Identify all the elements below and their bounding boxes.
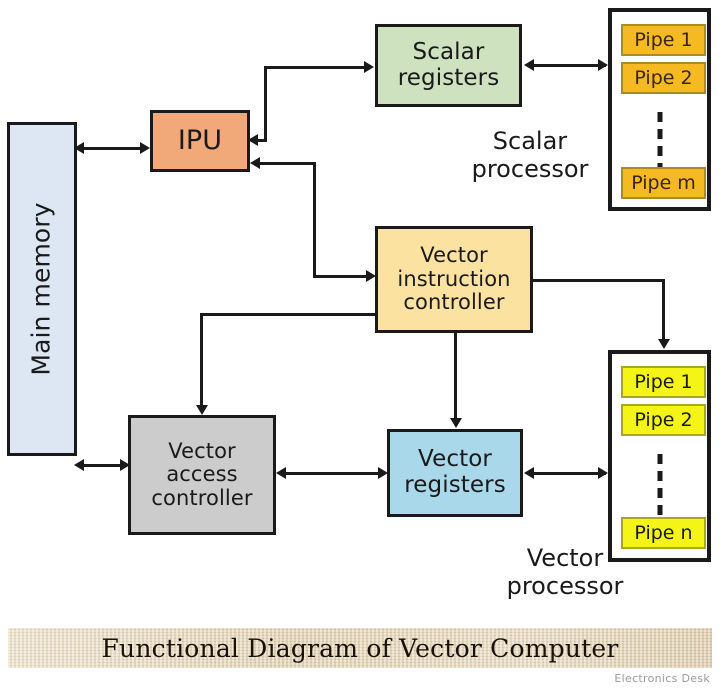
diagram-canvas: Main memory IPU Scalar registers Vector … <box>0 0 720 691</box>
node-vector-registers: Vector registers <box>387 429 523 517</box>
node-main-memory-label: Main memory <box>28 202 56 375</box>
node-vector-instruction-controller: Vector instruction controller <box>375 226 533 333</box>
edge-vic-vac-vertical <box>200 313 203 407</box>
group-vector-processor-label: Vector processor <box>490 545 640 600</box>
group-vector-processor: Pipe 1 Pipe 2 Pipe n <box>608 350 711 562</box>
edge-vic-vac-arrow <box>196 405 208 415</box>
edge-ipu-scalarreg-vertical <box>264 66 267 140</box>
watermark-label: Electronics Desk <box>614 672 710 685</box>
edge-vic-ipu-arrow <box>250 157 260 169</box>
node-ipu: IPU <box>150 110 250 172</box>
edge-vic-vectorproc-vertical <box>662 279 665 341</box>
node-scalar-registers-label: Scalar registers <box>378 40 519 92</box>
edge-vectorreg-vectorproc-arrow-left <box>524 467 534 479</box>
edge-vac-vectorreg-arrow-left <box>276 467 286 479</box>
diagram-title: Functional Diagram of Vector Computer <box>101 634 618 663</box>
edge-vic-ipu-horizontal <box>258 162 316 165</box>
vector-ellipsis-icon <box>657 454 662 515</box>
edge-scalarreg-ipu-arrow <box>248 134 258 146</box>
edge-vectorreg-vectorproc-arrow-right <box>598 467 608 479</box>
node-vector-access-controller-label: Vector access controller <box>131 440 273 511</box>
node-vector-instruction-controller-label: Vector instruction controller <box>378 244 530 315</box>
vector-pipe-1: Pipe 1 <box>621 366 706 398</box>
edge-vac-vectorreg <box>284 472 380 475</box>
node-vector-access-controller: Vector access controller <box>128 415 276 535</box>
edge-ipu-scalarreg-arrow <box>364 61 374 73</box>
edge-vic-vectorproc-horizontal <box>531 279 665 282</box>
edge-vic-ipu-entry <box>313 275 369 278</box>
edge-scalarreg-scalarproc <box>530 64 606 67</box>
edge-vectorreg-vectorproc <box>531 472 606 475</box>
edge-memory-ipu-arrow-right <box>140 142 150 154</box>
vector-pipe-2: Pipe 2 <box>621 404 706 436</box>
scalar-pipe-2: Pipe 2 <box>621 62 706 94</box>
edge-vic-vectorproc-arrow <box>658 339 670 349</box>
edge-scalarreg-scalarproc-arrow-right <box>598 59 608 71</box>
edge-vic-vectorreg-vertical <box>454 331 457 419</box>
scalar-ellipsis-icon <box>657 112 662 173</box>
scalar-pipe-1: Pipe 1 <box>621 24 706 56</box>
edge-memory-vac-arrow-right <box>120 459 130 471</box>
edge-memory-ipu <box>82 147 146 150</box>
edge-vac-vectorreg-arrow-right <box>378 467 388 479</box>
node-vector-registers-label: Vector registers <box>390 447 520 499</box>
node-scalar-registers: Scalar registers <box>375 24 522 107</box>
edge-memory-vac-arrow-left <box>74 459 84 471</box>
edge-ipu-scalarreg-horizontal <box>264 66 366 69</box>
edge-memory-ipu-arrow-left <box>74 142 84 154</box>
group-scalar-processor: Pipe 1 Pipe 2 Pipe m <box>608 8 711 211</box>
edge-vic-ipu-vertical <box>313 162 316 276</box>
edge-vic-vectorreg-arrow <box>450 418 462 428</box>
node-ipu-label: IPU <box>178 126 222 156</box>
edge-vic-vac-horizontal <box>200 313 376 316</box>
node-main-memory: Main memory <box>7 122 77 456</box>
edge-ipu-vic-arrow <box>366 270 376 282</box>
caption-band: Functional Diagram of Vector Computer <box>8 628 712 668</box>
group-scalar-processor-label: Scalar processor <box>455 128 605 183</box>
edge-scalarreg-scalarproc-arrow-left <box>524 59 534 71</box>
scalar-pipe-m: Pipe m <box>621 167 706 199</box>
